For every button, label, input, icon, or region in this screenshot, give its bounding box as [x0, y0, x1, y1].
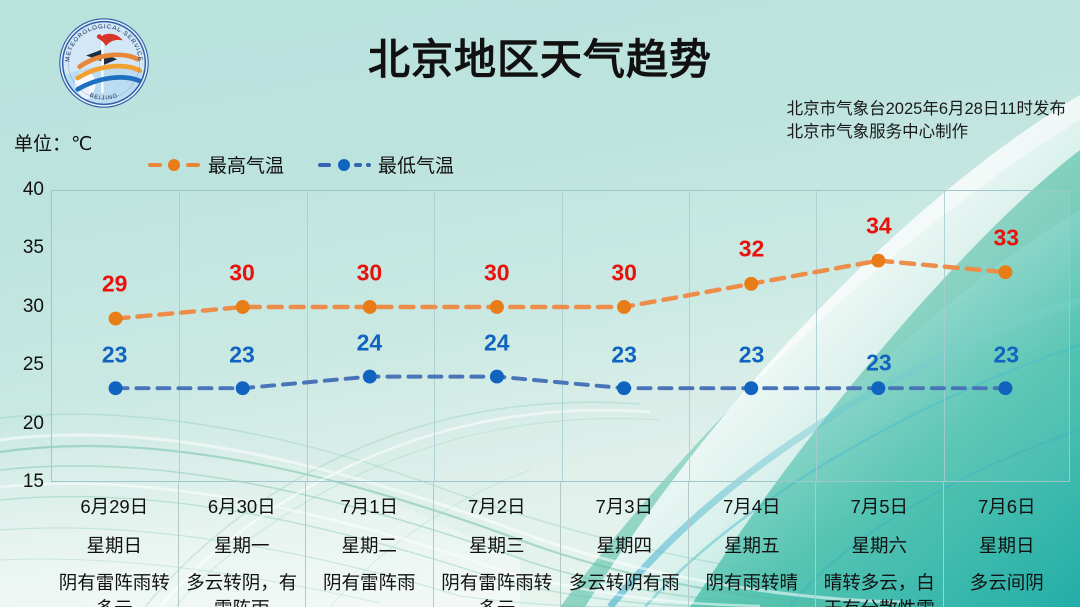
high-temp-value: 30 [611, 259, 637, 286]
high-temp-value: 34 [866, 213, 892, 240]
forecast-weekday: 星期四 [561, 532, 688, 558]
low-temp-value: 23 [102, 341, 128, 368]
high-temp-value: 30 [357, 259, 383, 286]
forecast-weekday: 星期日 [944, 532, 1071, 558]
forecast-weather-description: 阴有雷阵雨转多云 [51, 570, 178, 607]
forecast-weekday: 星期三 [434, 532, 561, 558]
forecast-weather-description: 阴有雷阵雨 [306, 570, 433, 596]
forecast-weekday: 星期二 [306, 532, 433, 558]
low-temp-value: 23 [229, 341, 255, 368]
forecast-day-column[interactable]: 7月2日星期三阴有雷阵雨转多云 [434, 482, 562, 607]
forecast-date: 7月4日 [689, 493, 816, 519]
forecast-day-column[interactable]: 6月29日星期日阴有雷阵雨转多云 [51, 482, 179, 607]
forecast-weather-description: 阴有雨转晴 [689, 570, 816, 596]
forecast-date: 7月5日 [816, 493, 943, 519]
forecast-day-column[interactable]: 6月30日星期一多云转阴，有雷阵雨 [179, 482, 307, 607]
forecast-weather-description: 晴转多云，白天有分散性雷阵雨 [816, 570, 943, 607]
forecast-date: 6月29日 [51, 493, 178, 519]
forecast-weather-description: 多云转阴，有雷阵雨 [179, 570, 306, 607]
low-temp-value: 24 [484, 329, 510, 356]
high-temp-value: 30 [484, 259, 510, 286]
forecast-weekday: 星期五 [689, 532, 816, 558]
forecast-date: 7月6日 [944, 493, 1071, 519]
weather-trend-infographic: METEOROLOGICAL SERVICE BEIJING 北京地区天气趋势 … [0, 0, 1080, 607]
forecast-day-column[interactable]: 7月5日星期六晴转多云，白天有分散性雷阵雨 [816, 482, 944, 607]
forecast-day-column[interactable]: 7月3日星期四多云转阴有雨 [561, 482, 689, 607]
high-temp-value: 33 [994, 224, 1020, 251]
low-temp-value: 23 [739, 341, 765, 368]
forecast-day-column[interactable]: 7月6日星期日多云间阴 [944, 482, 1071, 607]
forecast-weather-description: 阴有雷阵雨转多云 [434, 570, 561, 607]
forecast-day-column[interactable]: 7月1日星期二阴有雷阵雨 [306, 482, 434, 607]
forecast-date: 7月3日 [561, 493, 688, 519]
low-temp-value: 23 [611, 341, 637, 368]
forecast-date: 6月30日 [179, 493, 306, 519]
low-temp-value: 23 [866, 349, 892, 376]
forecast-weather-description: 多云转阴有雨 [561, 570, 688, 596]
low-temp-value: 23 [994, 341, 1020, 368]
low-temp-value: 24 [357, 329, 383, 356]
forecast-weather-description: 多云间阴 [944, 570, 1071, 596]
forecast-weekday: 星期一 [179, 532, 306, 558]
forecast-day-column[interactable]: 7月4日星期五阴有雨转晴 [689, 482, 817, 607]
forecast-weekday: 星期日 [51, 532, 178, 558]
high-temp-value: 30 [229, 259, 255, 286]
high-temp-value: 29 [102, 271, 128, 298]
forecast-weekday: 星期六 [816, 532, 943, 558]
high-temp-value: 32 [739, 236, 765, 263]
forecast-date: 7月1日 [306, 493, 433, 519]
daily-forecast-table: 6月29日星期日阴有雷阵雨转多云6月30日星期一多云转阴，有雷阵雨7月1日星期二… [51, 482, 1070, 607]
forecast-date: 7月2日 [434, 493, 561, 519]
